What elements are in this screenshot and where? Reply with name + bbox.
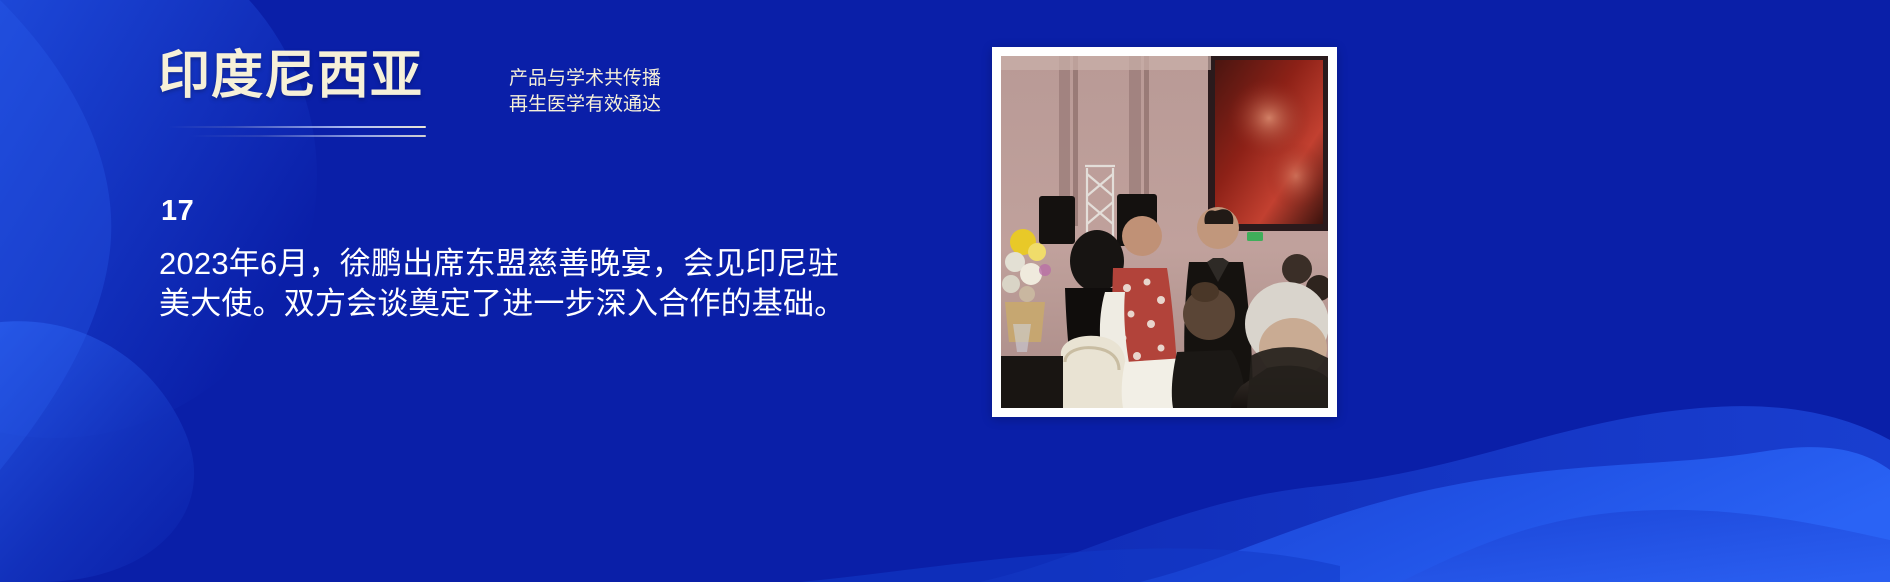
slide-canvas: 印度尼西亚 产品与学术共传播 再生医学有效通达 17 2023年6月，徐鹏出席东… — [0, 0, 1890, 582]
subtitle-line-2: 再生医学有效通达 — [509, 92, 661, 118]
event-photo-illustration — [1001, 56, 1328, 408]
title-underline-group — [168, 126, 426, 144]
body-line-1: 2023年6月，徐鹏出席东盟慈善晚宴，会见印尼驻 — [159, 244, 879, 284]
title-block: 印度尼西亚 — [158, 50, 423, 102]
page-title: 印度尼西亚 — [158, 50, 423, 102]
subtitle-line-1: 产品与学术共传播 — [509, 66, 661, 92]
body-line-2: 美大使。双方会谈奠定了进一步深入合作的基础。 — [159, 284, 879, 324]
body-paragraph: 2023年6月，徐鹏出席东盟慈善晚宴，会见印尼驻 美大使。双方会谈奠定了进一步深… — [159, 244, 879, 324]
subtitle-block: 产品与学术共传播 再生医学有效通达 — [509, 66, 661, 118]
title-underline-primary — [168, 126, 426, 128]
item-index-number: 17 — [161, 197, 194, 226]
person-bg-1 — [1282, 254, 1312, 284]
event-photo — [1001, 56, 1328, 408]
title-underline-secondary — [190, 135, 426, 137]
photo-frame — [992, 47, 1337, 417]
